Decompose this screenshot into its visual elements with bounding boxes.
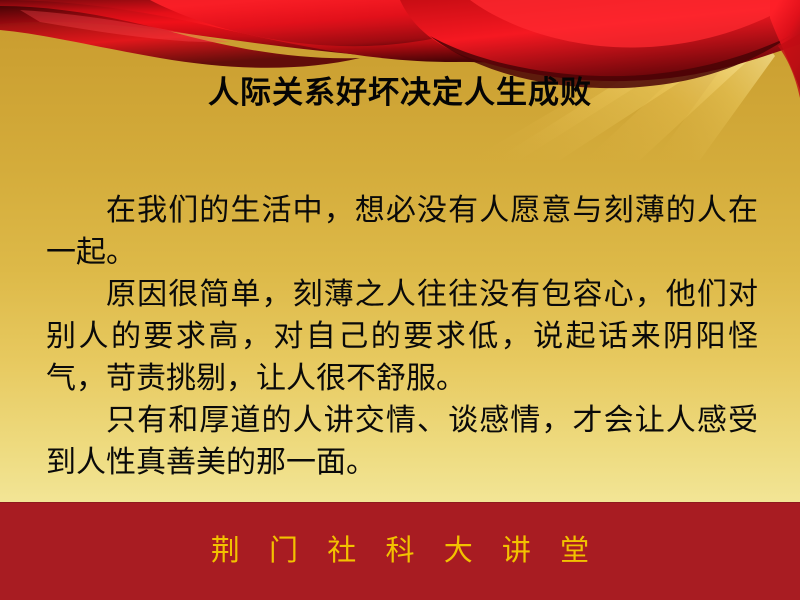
body-text-block: 在我们的生活中，想必没有人愿意与刻薄的人在一起。 原因很简单，刻薄之人往往没有包… bbox=[46, 190, 758, 484]
footer-band: 荆 门 社 科 大 讲 堂 bbox=[0, 502, 800, 600]
presentation-slide: 人际关系好坏决定人生成败 在我们的生活中，想必没有人愿意与刻薄的人在一起。 原因… bbox=[0, 0, 800, 600]
page-title: 人际关系好坏决定人生成败 bbox=[0, 74, 800, 112]
paragraph-2: 原因很简单，刻薄之人往往没有包容心，他们对别人的要求高，对自己的要求低，说起话来… bbox=[46, 274, 758, 400]
paragraph-3: 只有和厚道的人讲交情、谈感情，才会让人感受到人性真善美的那一面。 bbox=[46, 400, 758, 484]
footer-title: 荆 门 社 科 大 讲 堂 bbox=[0, 533, 800, 567]
paragraph-1: 在我们的生活中，想必没有人愿意与刻薄的人在一起。 bbox=[46, 190, 758, 274]
